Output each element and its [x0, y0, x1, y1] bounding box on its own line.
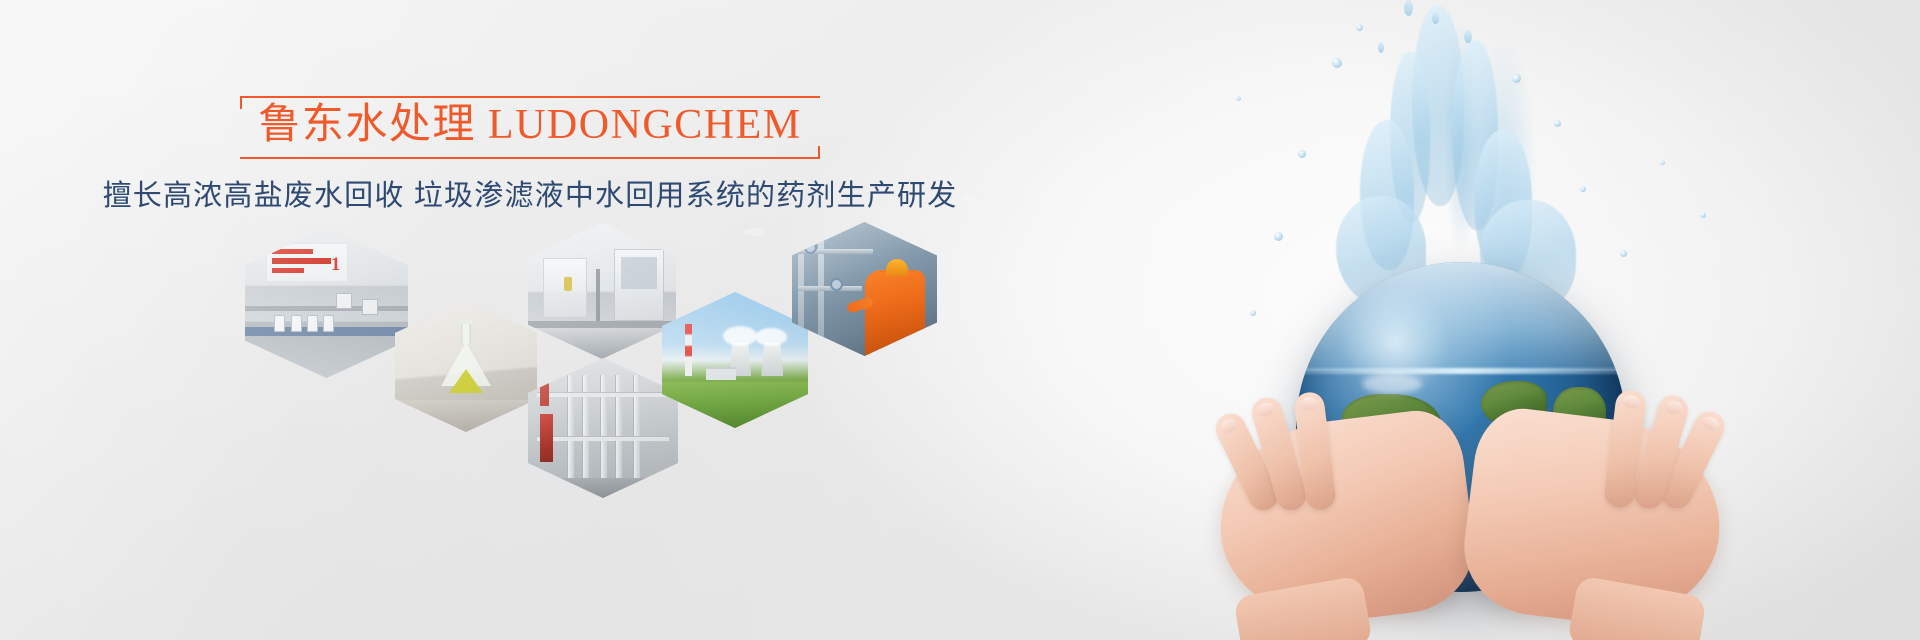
water-droplet: [1250, 310, 1256, 316]
hex-thumb-laboratory-room[interactable]: 1: [245, 228, 408, 378]
hex-gloss: [528, 358, 678, 498]
water-droplet: [1660, 160, 1665, 165]
hex-gloss: [245, 228, 408, 378]
hex-gloss: [528, 222, 676, 359]
fingernail: [1218, 416, 1239, 435]
water-droplet: [1298, 150, 1306, 158]
fingernail: [1664, 399, 1684, 416]
water-splash-globe-artwork: [1060, 0, 1920, 640]
water-droplet: [1700, 212, 1706, 218]
hex-thumb-lab-equipment[interactable]: [528, 222, 676, 359]
hex-gloss: [792, 222, 937, 356]
globe-waterline: [1296, 368, 1626, 374]
fingernail: [1256, 401, 1276, 418]
water-droplet: [1274, 232, 1283, 241]
fingernail: [1701, 414, 1722, 433]
decorative-accent: [744, 228, 766, 236]
water-droplet: [1620, 250, 1627, 257]
globe-water-surface: [1296, 262, 1626, 371]
hexagon-photo-cluster: 1: [0, 0, 1060, 640]
water-droplet: [1580, 186, 1586, 192]
splash-droplet: [1404, 0, 1413, 16]
promotional-banner: 鲁东水处理 LUDONGCHEM 擅长高浓高盐废水回收 垃圾渗滤液中水回用系统的…: [0, 0, 1920, 640]
hex-thumb-conical-flask[interactable]: [395, 300, 537, 432]
water-droplet: [1356, 24, 1363, 31]
fingernail: [1299, 396, 1317, 411]
splash-droplet: [1432, 12, 1439, 24]
hex-thumb-power-plant[interactable]: [662, 292, 808, 428]
hex-gloss: [662, 292, 808, 428]
splash-droplet: [1464, 30, 1472, 43]
water-droplet: [1332, 58, 1342, 68]
hex-thumb-industrial-piping[interactable]: [528, 358, 678, 498]
cupped-hands: [1220, 392, 1720, 640]
hex-thumb-worker-operating-valves[interactable]: [792, 222, 937, 356]
hex-gloss: [395, 300, 537, 432]
decorative-accent: [962, 196, 976, 202]
water-droplet: [1236, 96, 1241, 101]
water-droplet: [1554, 120, 1561, 127]
fingernail: [1622, 394, 1640, 409]
splash-droplet: [1378, 42, 1384, 53]
water-droplet: [1512, 74, 1521, 83]
